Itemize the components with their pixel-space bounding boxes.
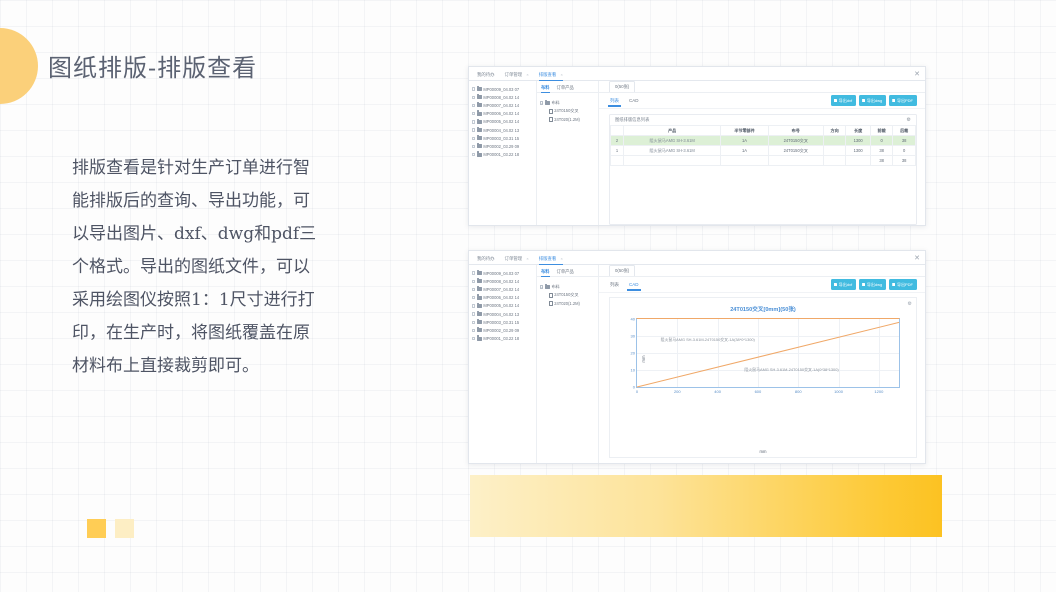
list-item[interactable]: MP00006_04.02 14 xyxy=(472,110,534,118)
button-label: 导出dxf xyxy=(839,98,852,104)
fabric-tree-column: 布料 订单产品 − 布料 24T0150交叉 24T020(1.2M) xyxy=(537,81,599,225)
folder-icon xyxy=(477,328,482,332)
list-item-label: MP00005_04.02 14 xyxy=(483,119,519,124)
tab-layout-view[interactable]: 排版查看 × xyxy=(539,72,563,81)
tab-close-icon[interactable]: × xyxy=(526,256,528,261)
x-tick-label: 400 xyxy=(714,389,721,394)
list-item-label: MP00006_04.02 14 xyxy=(483,295,519,300)
cell-back-cut: 0 xyxy=(893,146,916,156)
decorative-circle xyxy=(0,28,38,104)
fabric-tree: − 布料 24T0150交叉 24T020(1.2M) xyxy=(537,277,598,313)
sheet-tab-bar: 0(50张) xyxy=(599,265,925,277)
list-item[interactable]: MP00005_04.02 14 xyxy=(472,118,534,126)
tree-child[interactable]: 24T0150交叉 xyxy=(540,107,595,115)
export-dxf-button[interactable]: 导出dxf xyxy=(831,279,856,289)
tab-fabric[interactable]: 布料 xyxy=(541,269,550,277)
window-body: MP00009_04.03 07 MP00008_04.02 14 MP0000… xyxy=(469,265,925,463)
browser-tabstrip: 我的待办 订单管理 × 排版查看 × xyxy=(469,251,925,265)
cell-fabric-no: 24T0150交叉 xyxy=(768,146,823,156)
tab-label: 我的待办 xyxy=(477,256,495,261)
cad-detail-panel: 0(50张) 列表 CAD 导出dxf 导出dwg xyxy=(599,265,925,463)
view-mode-tabs: 列表 CAD xyxy=(609,279,640,291)
tab-layout-view[interactable]: 排版查看 × xyxy=(539,256,563,265)
cad-chart-card: ⚙ 24T0150交叉[0mm](50张) mm xyxy=(609,297,917,458)
folder-icon xyxy=(477,153,482,157)
list-item-label: MP00008_04.02 14 xyxy=(483,279,519,284)
tab-cad-view[interactable]: CAD xyxy=(628,279,640,291)
cell-product xyxy=(624,156,721,166)
document-icon xyxy=(549,301,553,306)
download-icon xyxy=(834,99,837,103)
list-item-label: MP00004_04.02 13 xyxy=(483,128,519,133)
tab-my-todo[interactable]: 我的待办 xyxy=(477,256,495,265)
y-tick-label: 40 xyxy=(631,317,635,322)
tab-my-todo[interactable]: 我的待办 xyxy=(477,72,495,81)
list-item[interactable]: MP00009_04.03 07 xyxy=(472,85,534,93)
tab-order-product[interactable]: 订单产品 xyxy=(557,269,574,277)
tree-label: 24T0150交叉 xyxy=(554,108,578,114)
export-dwg-button[interactable]: 导出dwg xyxy=(859,279,886,289)
list-item[interactable]: MP00009_04.03 07 xyxy=(472,269,534,277)
tree-label: 布料 xyxy=(552,284,560,290)
layout-table: 产品 半节零部件 布号 方向 长度 前裁 后裁 2 阻火鼠马AMG SH-3.6 xyxy=(610,125,916,166)
y-tick-label: 10 xyxy=(631,368,635,373)
cell-front-cut: 38 xyxy=(870,146,893,156)
export-button-group: 导出dxf 导出dwg 导出PDF xyxy=(831,95,917,105)
browser-tabstrip: 我的待办 订单管理 × 排版查看 × xyxy=(469,67,925,81)
y-tick-label: 0 xyxy=(633,385,635,390)
x-axis-label: mm xyxy=(610,449,916,454)
list-item[interactable]: MP00004_04.02 13 xyxy=(472,126,534,134)
list-item[interactable]: MP00006_04.02 14 xyxy=(472,294,534,302)
checkbox[interactable] xyxy=(472,128,475,131)
body-line-1: 排版查看是针对生产订单进行智 xyxy=(72,152,374,185)
chart-title: 24T0150交叉[0mm](50张) xyxy=(610,305,916,313)
download-icon xyxy=(834,283,837,287)
fabric-tree: − 布料 24T0150交叉 24T020(1.2M) xyxy=(537,93,598,129)
tab-label: 排版查看 xyxy=(539,256,557,261)
button-label: 导出dwg xyxy=(867,282,882,288)
tree-label: 24T020(1.2M) xyxy=(554,117,580,122)
cell-part: 1A xyxy=(721,136,768,146)
list-item[interactable]: MP00002_03.29 09 xyxy=(472,326,534,334)
list-item-label: MP00009_04.03 07 xyxy=(483,271,519,276)
column-header-length: 长度 xyxy=(846,126,870,136)
cell-back-cut-total: 38 xyxy=(893,156,916,166)
cell-length xyxy=(846,156,870,166)
cell-part: 1A xyxy=(721,146,768,156)
list-item-label: MP00002_03.29 09 xyxy=(483,328,519,333)
tab-order-product[interactable]: 订单产品 xyxy=(557,85,574,93)
document-icon xyxy=(549,109,553,114)
close-icon[interactable]: ✕ xyxy=(914,71,920,78)
checkbox[interactable] xyxy=(472,280,475,283)
table-header-row: 产品 半节零部件 布号 方向 长度 前裁 后裁 xyxy=(611,126,916,136)
export-pdf-button[interactable]: 导出PDF xyxy=(889,279,917,289)
list-item[interactable]: MP00005_04.02 14 xyxy=(472,302,534,310)
body-line-7: 材料布上直接裁剪即可。 xyxy=(72,350,374,383)
tab-label: 订单管理 xyxy=(505,256,523,261)
tab-sheet-0[interactable]: 0(50张) xyxy=(609,265,635,276)
tree-label: 24T0150交叉 xyxy=(554,292,578,298)
cell-index: 1 xyxy=(611,146,624,156)
decorative-square-solid xyxy=(87,519,106,538)
x-tick-label: 600 xyxy=(755,389,762,394)
button-label: 导出dxf xyxy=(839,282,852,288)
column-header-direction: 方向 xyxy=(823,126,846,136)
list-item-label: MP00001_03.22 18 xyxy=(483,152,519,157)
folder-icon xyxy=(477,304,482,308)
cell-fabric-no: 24T0150交叉 xyxy=(768,136,823,146)
order-file-list[interactable]: MP00009_04.03 07 MP00008_04.02 14 MP0000… xyxy=(469,81,537,225)
export-pdf-button[interactable]: 导出PDF xyxy=(889,95,917,105)
collapse-toggle-icon[interactable]: − xyxy=(540,285,543,288)
view-mode-tabs: 列表 CAD xyxy=(609,95,640,107)
table-caption-row: 图纸排版信息列表 ⚙ xyxy=(610,115,916,125)
folder-icon xyxy=(477,120,482,124)
list-item-label: MP00002_03.29 09 xyxy=(483,144,519,149)
tree-root[interactable]: − 布料 xyxy=(540,283,595,291)
cell-index: 2 xyxy=(611,136,624,146)
tab-sheet-0[interactable]: 0(50张) xyxy=(609,81,635,92)
checkbox[interactable] xyxy=(472,321,475,324)
export-button-group: 导出dxf 导出dwg 导出PDF xyxy=(831,279,917,289)
layout-table-card: 图纸排版信息列表 ⚙ 产品 半节零部件 布号 方向 长度 前裁 后裁 xyxy=(609,114,917,225)
tab-cad-view[interactable]: CAD xyxy=(628,95,640,107)
checkbox[interactable] xyxy=(472,312,475,315)
cell-length: 1300 xyxy=(846,146,870,156)
checkbox[interactable] xyxy=(472,104,475,107)
screenshot-window-cad: ✕ 我的待办 订单管理 × 排版查看 × MP00009_04.03 07 MP… xyxy=(468,250,926,464)
tab-label: 排版查看 xyxy=(539,72,557,77)
folder-icon xyxy=(477,287,482,291)
sheet-tab-bar: 0(50张) xyxy=(599,81,925,93)
list-item-label: MP00005_04.02 14 xyxy=(483,303,519,308)
tree-child[interactable]: 24T020(1.2M) xyxy=(540,299,595,307)
table-row[interactable]: 1 阻火鼠马AMG SH-3.61M 1A 24T0150交叉 1300 38 … xyxy=(611,146,916,156)
download-icon xyxy=(892,283,895,287)
collapse-toggle-icon[interactable]: − xyxy=(540,101,543,104)
list-item[interactable]: MP00007_04.02 14 xyxy=(472,285,534,293)
x-tick-label: 1000 xyxy=(834,389,843,394)
tab-close-icon[interactable]: × xyxy=(526,72,528,77)
detail-toolbar: 列表 CAD 导出dxf 导出dwg 导出PDF xyxy=(599,277,925,293)
checkbox[interactable] xyxy=(472,145,475,148)
checkbox[interactable] xyxy=(472,337,475,340)
layout-detail-panel: 0(50张) 列表 CAD 导出dxf 导出dwg xyxy=(599,81,925,225)
folder-icon xyxy=(477,320,482,324)
list-item-label: MP00006_04.02 14 xyxy=(483,111,519,116)
plot-area: 0 10 20 30 40 0 200 400 600 800 1000 120… xyxy=(636,318,900,388)
checkbox[interactable] xyxy=(472,112,475,115)
folder-icon xyxy=(477,296,482,300)
folder-icon xyxy=(477,103,482,107)
body-line-2: 能排版后的查询、导出功能，可 xyxy=(72,185,374,218)
tab-list-view[interactable]: 列表 xyxy=(609,279,620,291)
series-line xyxy=(637,319,899,387)
body-line-6: 印，在生产时，将图纸覆盖在原 xyxy=(72,317,374,350)
folder-icon xyxy=(477,312,482,316)
chart-annotation: 阻火鼠马AMG SH-3.61M-24T0150交叉-1A(38*0*1300) xyxy=(661,337,755,343)
folder-icon xyxy=(477,136,482,140)
tree-label: 24T020(1.2M) xyxy=(554,301,580,306)
cell-front-cut-total: 38 xyxy=(870,156,893,166)
column-header-fabric-no: 布号 xyxy=(768,126,823,136)
list-item[interactable]: MP00003_03.31 15 xyxy=(472,134,534,142)
tab-close-icon[interactable]: × xyxy=(561,72,563,77)
checkbox[interactable] xyxy=(472,288,475,291)
list-item-label: MP00007_04.02 14 xyxy=(483,287,519,292)
tab-fabric[interactable]: 布料 xyxy=(541,85,550,93)
detail-toolbar: 列表 CAD 导出dxf 导出dwg 导出PDF xyxy=(599,93,925,109)
gear-icon[interactable]: ⚙ xyxy=(908,301,912,307)
folder-icon xyxy=(477,337,482,341)
fabric-tab-bar: 布料 订单产品 xyxy=(537,265,598,277)
y-tick-label: 20 xyxy=(631,351,635,356)
screenshot-window-list: ✕ 我的待办 订单管理 × 排版查看 × MP00009_04.03 07 MP… xyxy=(468,66,926,226)
chart-annotation: 阻火鼠马AMG SH-3.61M-24T0150交叉-1A(0*38*1300) xyxy=(744,367,838,373)
tree-child[interactable]: 24T0150交叉 xyxy=(540,291,595,299)
cell-fabric-no xyxy=(768,156,823,166)
body-line-4: 个格式。导出的图纸文件，可以 xyxy=(72,251,374,284)
x-tick-label: 800 xyxy=(795,389,802,394)
tab-order-management[interactable]: 订单管理 × xyxy=(505,256,529,265)
export-dwg-button[interactable]: 导出dwg xyxy=(859,95,886,105)
folder-icon xyxy=(545,101,550,105)
folder-icon xyxy=(477,95,482,99)
tree-child[interactable]: 24T020(1.2M) xyxy=(540,115,595,123)
checkbox[interactable] xyxy=(472,153,475,156)
table-row-total: 38 38 xyxy=(611,156,916,166)
list-item-label: MP00009_04.03 07 xyxy=(483,87,519,92)
list-item[interactable]: MP00001_03.22 18 xyxy=(472,151,534,159)
list-item-label: MP00004_04.02 13 xyxy=(483,312,519,317)
body-paragraph: 排版查看是针对生产订单进行智 能排版后的查询、导出功能，可 以导出图片、dxf、… xyxy=(72,152,374,383)
body-line-3: 以导出图片、dxf、dwg和pdf三 xyxy=(72,218,374,251)
fabric-tree-column: 布料 订单产品 − 布料 24T0150交叉 24T020(1.2M) xyxy=(537,265,599,463)
tab-order-management[interactable]: 订单管理 × xyxy=(505,72,529,81)
tree-root[interactable]: − 布料 xyxy=(540,99,595,107)
download-icon xyxy=(862,283,865,287)
list-item[interactable]: MP00004_04.02 13 xyxy=(472,310,534,318)
tab-close-icon[interactable]: × xyxy=(561,256,563,261)
column-header-index xyxy=(611,126,624,136)
order-file-list[interactable]: MP00009_04.03 07 MP00008_04.02 14 MP0000… xyxy=(469,265,537,463)
x-tick-label: 0 xyxy=(636,389,638,394)
folder-icon xyxy=(477,279,482,283)
page-title: 图纸排版-排版查看 xyxy=(48,48,257,83)
close-icon[interactable]: ✕ xyxy=(914,255,920,262)
list-item-label: MP00003_03.31 15 xyxy=(483,136,519,141)
fabric-tab-bar: 布料 订单产品 xyxy=(537,81,598,93)
table-caption: 图纸排版信息列表 xyxy=(615,117,649,123)
list-item-label: MP00008_04.02 14 xyxy=(483,95,519,100)
window-body: MP00009_04.03 07 MP00008_04.02 14 MP0000… xyxy=(469,81,925,225)
cell-direction xyxy=(823,156,846,166)
button-label: 导出PDF xyxy=(897,98,913,104)
download-icon xyxy=(862,99,865,103)
decorative-square-light xyxy=(115,519,134,538)
cell-product: 阻火鼠马AMG SH-3.61M xyxy=(624,146,721,156)
checkbox[interactable] xyxy=(472,120,475,123)
folder-icon xyxy=(477,112,482,116)
list-item-label: MP00001_03.22 18 xyxy=(483,336,519,341)
list-item[interactable]: MP00001_03.22 18 xyxy=(472,335,534,343)
y-tick-label: 30 xyxy=(631,334,635,339)
button-label: 导出dwg xyxy=(867,98,882,104)
folder-icon xyxy=(545,285,550,289)
folder-icon xyxy=(477,87,482,91)
checkbox[interactable] xyxy=(472,271,475,274)
export-dxf-button[interactable]: 导出dxf xyxy=(831,95,856,105)
tab-label: 订单管理 xyxy=(505,72,523,77)
checkbox[interactable] xyxy=(472,137,475,140)
checkbox[interactable] xyxy=(472,329,475,332)
checkbox[interactable] xyxy=(472,304,475,307)
list-item[interactable]: MP00008_04.02 14 xyxy=(472,277,534,285)
document-icon xyxy=(549,117,553,122)
column-header-front-cut: 前裁 xyxy=(870,126,893,136)
list-item-label: MP00007_04.02 14 xyxy=(483,103,519,108)
x-tick-label: 200 xyxy=(674,389,681,394)
cell-product: 阻火鼠马AMG SH-3.61M xyxy=(624,136,721,146)
folder-icon xyxy=(477,128,482,132)
tree-label: 布料 xyxy=(552,100,560,106)
column-header-back-cut: 后裁 xyxy=(893,126,916,136)
folder-icon xyxy=(477,144,482,148)
gear-icon[interactable]: ⚙ xyxy=(907,117,911,123)
checkbox[interactable] xyxy=(472,296,475,299)
column-header-product: 产品 xyxy=(624,126,721,136)
column-header-part: 半节零部件 xyxy=(721,126,768,136)
list-item[interactable]: MP00008_04.02 14 xyxy=(472,93,534,101)
cell-front-cut: 0 xyxy=(870,136,893,146)
cell-direction xyxy=(823,146,846,156)
cell-length: 1300 xyxy=(846,136,870,146)
list-item[interactable]: MP00007_04.02 14 xyxy=(472,101,534,109)
body-line-5: 采用绘图仪按照1：1尺寸进行打 xyxy=(72,284,374,317)
list-item[interactable]: MP00003_03.31 15 xyxy=(472,318,534,326)
checkbox[interactable] xyxy=(472,87,475,90)
cell-direction xyxy=(823,136,846,146)
download-icon xyxy=(892,99,895,103)
tab-list-view[interactable]: 列表 xyxy=(609,95,620,107)
folder-icon xyxy=(477,271,482,275)
cell-back-cut: 38 xyxy=(893,136,916,146)
table-row[interactable]: 2 阻火鼠马AMG SH-3.61M 1A 24T0150交叉 1300 0 3… xyxy=(611,136,916,146)
document-icon xyxy=(549,293,553,298)
cell-part xyxy=(721,156,768,166)
list-item-label: MP00003_03.31 15 xyxy=(483,320,519,325)
checkbox[interactable] xyxy=(472,96,475,99)
decorative-gradient-bar xyxy=(470,475,942,537)
x-tick-label: 1200 xyxy=(874,389,883,394)
list-item[interactable]: MP00002_03.29 09 xyxy=(472,142,534,150)
button-label: 导出PDF xyxy=(897,282,913,288)
cell-index xyxy=(611,156,624,166)
tab-label: 我的待办 xyxy=(477,72,495,77)
chart-plot: mm xyxy=(636,318,900,400)
